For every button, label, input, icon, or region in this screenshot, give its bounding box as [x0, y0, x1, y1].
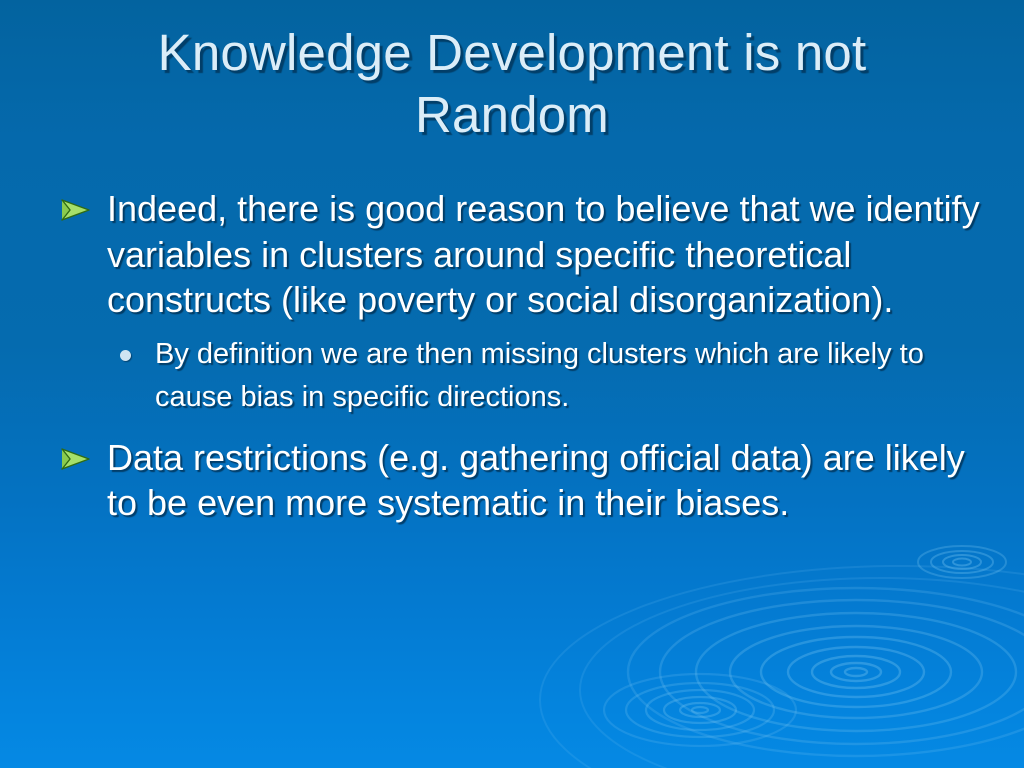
ripple-medium-left — [604, 674, 796, 746]
dot-bullet-icon — [120, 350, 131, 361]
bullet-text: By definition we are then missing cluste… — [155, 338, 924, 413]
bullet-text: Data restrictions (e.g. gathering offici… — [107, 437, 965, 524]
slide-title: Knowledge Development is not Random — [60, 22, 964, 146]
ripple-large-main — [628, 588, 1024, 756]
bullet-text: Indeed, there is good reason to believe … — [107, 188, 980, 320]
arrow-bullet-icon — [59, 197, 93, 223]
ripple-outer-arcs — [540, 566, 1024, 768]
sub-bullet-list: By definition we are then missing cluste… — [52, 333, 982, 419]
slide-body: Indeed, there is good reason to believe … — [52, 186, 982, 526]
bullet-item-level1: Indeed, there is good reason to believe … — [52, 186, 987, 323]
bullet-item-level1: Data restrictions (e.g. gathering offici… — [52, 435, 987, 526]
ripple-small-top — [918, 546, 1006, 578]
presentation-slide: Knowledge Development is not Random Inde… — [0, 0, 1024, 768]
arrow-bullet-icon — [59, 446, 93, 472]
bullet-item-level2: By definition we are then missing cluste… — [107, 333, 945, 419]
